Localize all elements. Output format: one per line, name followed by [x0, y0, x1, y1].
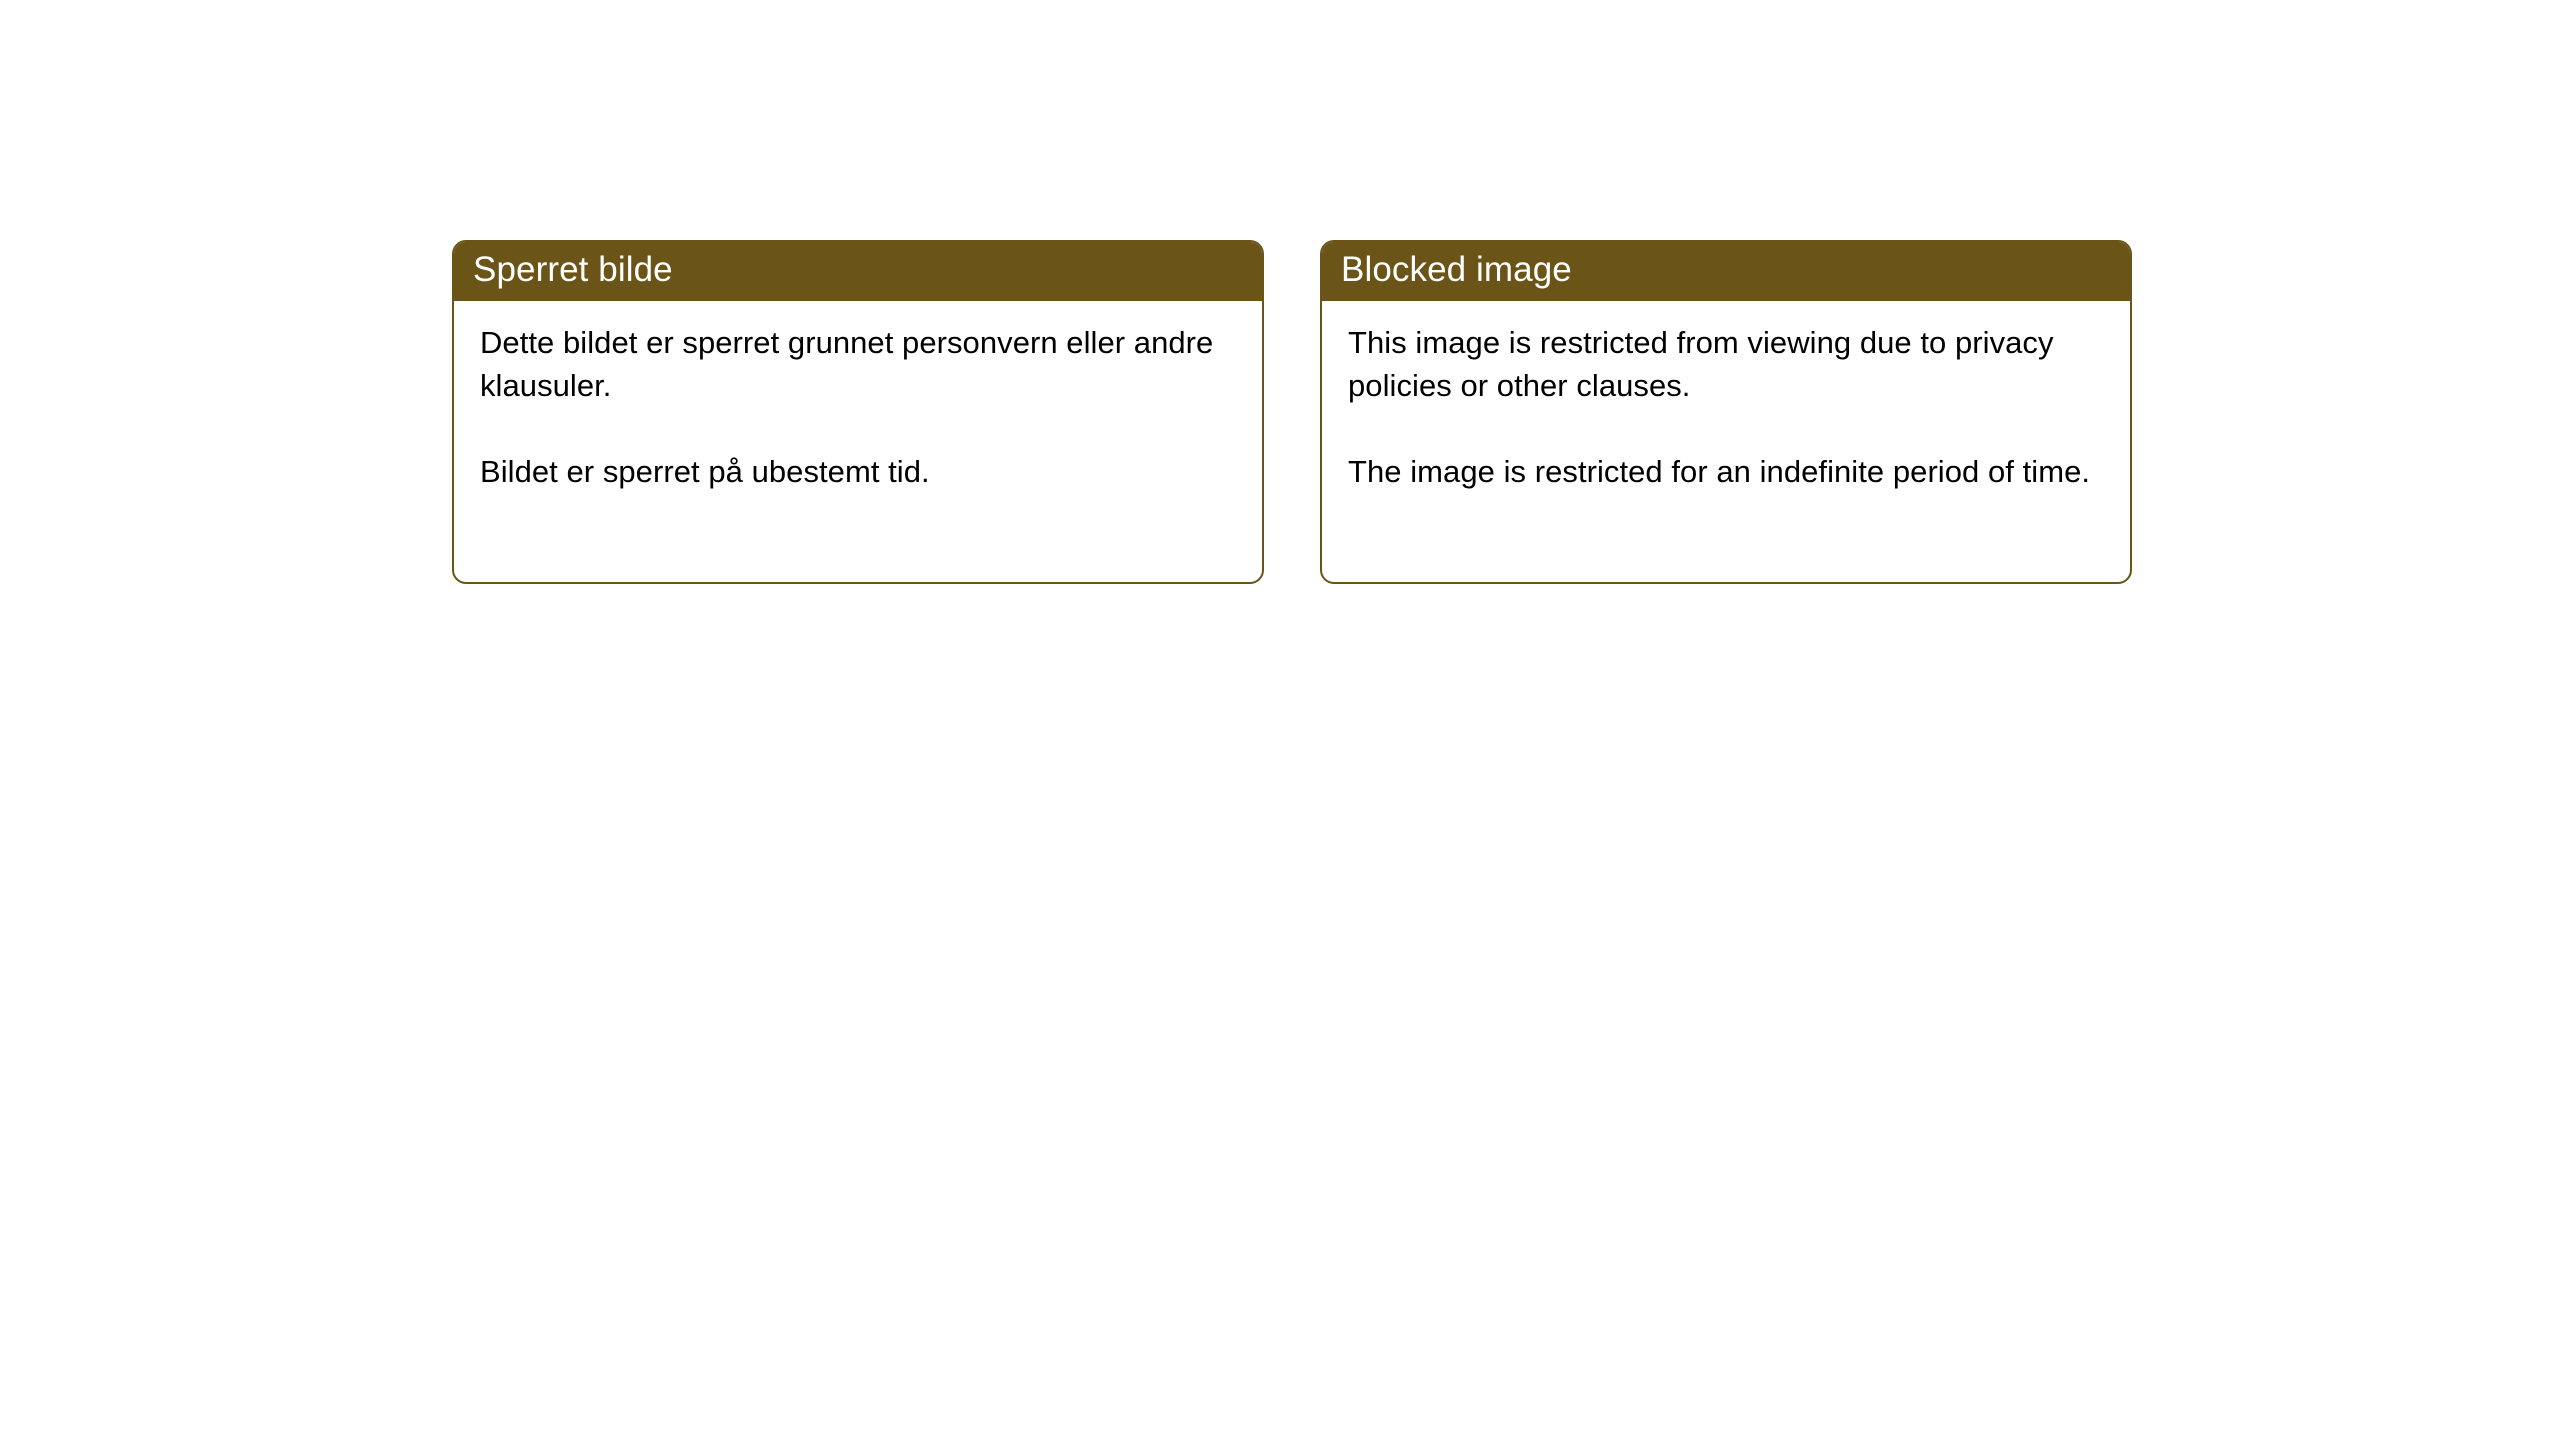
card-paragraph-duration-english: The image is restricted for an indefinit…	[1348, 450, 2104, 493]
card-body-norwegian: Dette bildet er sperret grunnet personve…	[454, 301, 1262, 493]
page-canvas: Sperret bilde Dette bildet er sperret gr…	[0, 0, 2560, 1440]
card-paragraph-reason-english: This image is restricted from viewing du…	[1348, 321, 2104, 407]
blocked-image-notice-card-norwegian: Sperret bilde Dette bildet er sperret gr…	[452, 240, 1264, 584]
blocked-image-notice-card-english: Blocked image This image is restricted f…	[1320, 240, 2132, 584]
card-header-norwegian: Sperret bilde	[452, 240, 1264, 301]
card-paragraph-duration-norwegian: Bildet er sperret på ubestemt tid.	[480, 450, 1236, 493]
card-body-english: This image is restricted from viewing du…	[1322, 301, 2130, 493]
card-paragraph-reason-norwegian: Dette bildet er sperret grunnet personve…	[480, 321, 1236, 407]
card-title-english: Blocked image	[1341, 252, 1572, 287]
card-title-norwegian: Sperret bilde	[473, 252, 673, 287]
card-header-english: Blocked image	[1320, 240, 2132, 301]
